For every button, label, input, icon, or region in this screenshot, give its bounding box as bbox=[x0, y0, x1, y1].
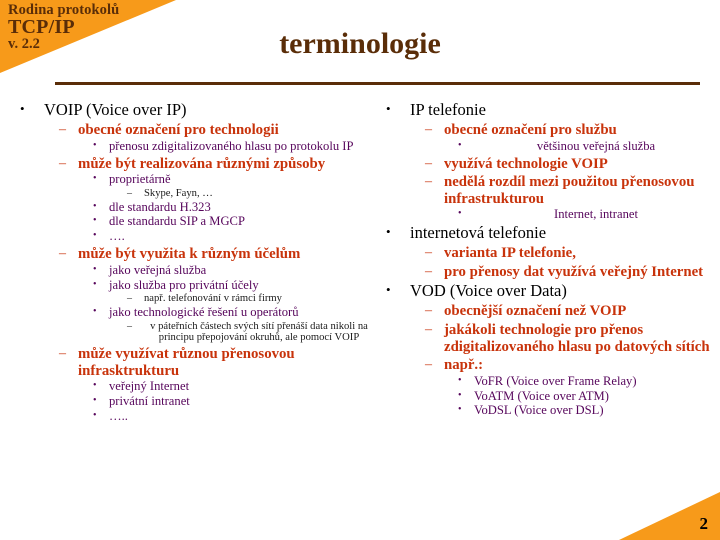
outline-item-text: dle standardu H.323 bbox=[109, 201, 374, 215]
outline-item-level-3: •většinou veřejná služba bbox=[374, 140, 718, 154]
disc-bullet-icon: • bbox=[458, 390, 470, 401]
disc-bullet-icon: • bbox=[458, 208, 470, 219]
outline-item-level-2: –např.: bbox=[374, 357, 718, 374]
outline-item-text: Internet, intranet bbox=[474, 208, 718, 222]
outline-item-level-3: •jako veřejná služba bbox=[6, 264, 374, 278]
outline-item-level-2: –obecné označení pro službu bbox=[374, 122, 718, 139]
disc-bullet-icon: • bbox=[93, 264, 105, 275]
outline-item-level-3: •…. bbox=[6, 230, 374, 244]
disc-bullet-icon: • bbox=[93, 173, 105, 184]
disc-bullet-icon: • bbox=[93, 306, 105, 317]
disc-bullet-icon: • bbox=[93, 201, 105, 212]
outline-item-text: např.: bbox=[444, 357, 718, 374]
outline-item-level-4: –Skype, Fayn, … bbox=[6, 188, 374, 200]
outline-item-text: proprietárně bbox=[109, 173, 374, 187]
outline-item-text: VoDSL (Voice over DSL) bbox=[474, 404, 718, 418]
disc-bullet-icon: • bbox=[93, 279, 105, 290]
dash-bullet-icon: – bbox=[59, 122, 76, 138]
dash-bullet-icon: – bbox=[59, 346, 76, 362]
outline-item-text: VoATM (Voice over ATM) bbox=[474, 390, 718, 404]
disc-bullet-icon: • bbox=[93, 140, 105, 151]
outline-item-level-3: •proprietárně bbox=[6, 173, 374, 187]
outline-item-level-2: –pro přenosy dat využívá veřejný Interne… bbox=[374, 264, 718, 281]
outline-item-level-1: •IP telefonie bbox=[374, 100, 718, 120]
outline-item-level-3: •Internet, intranet bbox=[374, 208, 718, 222]
outline-item-text: nedělá rozdíl mezi použitou přenosovou i… bbox=[444, 174, 718, 207]
outline-item-level-1: •VOIP (Voice over IP) bbox=[6, 100, 374, 120]
outline-item-level-2: –jakákoli technologie pro přenos zdigita… bbox=[374, 322, 718, 355]
disc-bullet-icon: • bbox=[386, 282, 402, 298]
outline-item-level-2: –využívá technologie VOIP bbox=[374, 156, 718, 173]
presentation-slide: Rodina protokolů TCP/IP v. 2.2 terminolo… bbox=[0, 0, 720, 540]
outline-item-text: jako služba pro privátní účely bbox=[109, 279, 374, 293]
dash-bullet-icon: – bbox=[59, 156, 76, 172]
outline-item-text: …. bbox=[109, 230, 374, 244]
outline-item-text: internetová telefonie bbox=[410, 223, 718, 243]
disc-bullet-icon: • bbox=[93, 380, 105, 391]
outline-item-level-3: •veřejný Internet bbox=[6, 380, 374, 394]
outline-item-text: obecnější označení než VOIP bbox=[444, 303, 718, 320]
title-divider-rule bbox=[55, 82, 700, 85]
disc-bullet-icon: • bbox=[93, 410, 105, 421]
dash-bullet-icon: – bbox=[425, 122, 442, 138]
disc-bullet-icon: • bbox=[458, 375, 470, 386]
outline-item-level-1: •internetová telefonie bbox=[374, 223, 718, 243]
outline-item-level-3: •dle standardu SIP a MGCP bbox=[6, 215, 374, 229]
dash-bullet-icon: – bbox=[425, 174, 442, 190]
disc-bullet-icon: • bbox=[458, 404, 470, 415]
outline-item-level-3: •VoATM (Voice over ATM) bbox=[374, 390, 718, 404]
page-number: 2 bbox=[700, 514, 709, 534]
outline-item-level-3: •přenosu zdigitalizovaného hlasu po prot… bbox=[6, 140, 374, 154]
outline-item-level-2: –obecnější označení než VOIP bbox=[374, 303, 718, 320]
outline-item-text: ….. bbox=[109, 410, 374, 424]
outline-item-level-3: •jako služba pro privátní účely bbox=[6, 279, 374, 293]
outline-item-level-2: –může být využita k různým účelům bbox=[6, 246, 374, 263]
outline-item-text: varianta IP telefonie, bbox=[444, 245, 718, 262]
right-content-column: •IP telefonie–obecné označení pro službu… bbox=[374, 99, 718, 419]
dash-bullet-icon: – bbox=[425, 156, 442, 172]
slide-title: terminologie bbox=[0, 27, 720, 61]
disc-bullet-icon: • bbox=[93, 215, 105, 226]
outline-item-level-3: •jako technologické řešení u operátorů bbox=[6, 306, 374, 320]
outline-item-text: přenosu zdigitalizovaného hlasu po proto… bbox=[109, 140, 374, 154]
dash-bullet-icon: – bbox=[425, 357, 442, 373]
outline-item-level-3: •privátní intranet bbox=[6, 395, 374, 409]
outline-item-text: Skype, Fayn, … bbox=[144, 188, 374, 200]
outline-item-level-2: –varianta IP telefonie, bbox=[374, 245, 718, 262]
dash-bullet-icon: – bbox=[127, 293, 139, 304]
outline-item-level-3: •VoDSL (Voice over DSL) bbox=[374, 404, 718, 418]
outline-item-text: většinou veřejná služba bbox=[474, 140, 718, 154]
outline-item-text: obecné označení pro službu bbox=[444, 122, 718, 139]
outline-item-text: VOIP (Voice over IP) bbox=[44, 100, 374, 120]
outline-item-text: např. telefonování v rámci firmy bbox=[144, 293, 374, 305]
outline-item-text: pro přenosy dat využívá veřejný Internet bbox=[444, 264, 718, 281]
left-content-column: •VOIP (Voice over IP)–obecné označení pr… bbox=[6, 99, 374, 425]
outline-item-text: VoFR (Voice over Frame Relay) bbox=[474, 375, 718, 389]
disc-bullet-icon: • bbox=[20, 101, 36, 117]
outline-item-level-3: •VoFR (Voice over Frame Relay) bbox=[374, 375, 718, 389]
outline-item-text: veřejný Internet bbox=[109, 380, 374, 394]
outline-item-level-2: –obecné označení pro technologii bbox=[6, 122, 374, 139]
dash-bullet-icon: – bbox=[425, 264, 442, 280]
outline-item-text: může využívat různou přenosovou infraskt… bbox=[78, 346, 374, 379]
outline-item-level-2: –může využívat různou přenosovou infrask… bbox=[6, 346, 374, 379]
outline-item-text: VOD (Voice over Data) bbox=[410, 281, 718, 301]
outline-item-level-4: –v páteřních částech svých sítí přenáší … bbox=[6, 321, 374, 344]
dash-bullet-icon: – bbox=[425, 245, 442, 261]
dash-bullet-icon: – bbox=[127, 321, 139, 332]
outline-item-level-2: –nedělá rozdíl mezi použitou přenosovou … bbox=[374, 174, 718, 207]
dash-bullet-icon: – bbox=[59, 246, 76, 262]
outline-item-text: jako veřejná služba bbox=[109, 264, 374, 278]
outline-item-text: privátní intranet bbox=[109, 395, 374, 409]
outline-item-level-4: –např. telefonování v rámci firmy bbox=[6, 293, 374, 305]
outline-item-text: obecné označení pro technologii bbox=[78, 122, 374, 139]
dash-bullet-icon: – bbox=[425, 303, 442, 319]
outline-item-text: může být využita k různým účelům bbox=[78, 246, 374, 263]
outline-item-level-1: •VOD (Voice over Data) bbox=[374, 281, 718, 301]
disc-bullet-icon: • bbox=[386, 101, 402, 117]
outline-item-text: jako technologické řešení u operátorů bbox=[109, 306, 374, 320]
disc-bullet-icon: • bbox=[93, 230, 105, 241]
dash-bullet-icon: – bbox=[425, 322, 442, 338]
outline-item-level-3: •dle standardu H.323 bbox=[6, 201, 374, 215]
outline-item-text: dle standardu SIP a MGCP bbox=[109, 215, 374, 229]
outline-item-level-3: •….. bbox=[6, 410, 374, 424]
outline-item-text: jakákoli technologie pro přenos zdigital… bbox=[444, 322, 718, 355]
outline-item-level-2: –může být realizována různými způsoby bbox=[6, 156, 374, 173]
disc-bullet-icon: • bbox=[386, 224, 402, 240]
outline-item-text: v páteřních částech svých sítí přenáší d… bbox=[144, 321, 374, 344]
outline-item-text: může být realizována různými způsoby bbox=[78, 156, 374, 173]
disc-bullet-icon: • bbox=[93, 395, 105, 406]
dash-bullet-icon: – bbox=[127, 188, 139, 199]
outline-item-text: IP telefonie bbox=[410, 100, 718, 120]
outline-item-text: využívá technologie VOIP bbox=[444, 156, 718, 173]
disc-bullet-icon: • bbox=[458, 140, 470, 151]
